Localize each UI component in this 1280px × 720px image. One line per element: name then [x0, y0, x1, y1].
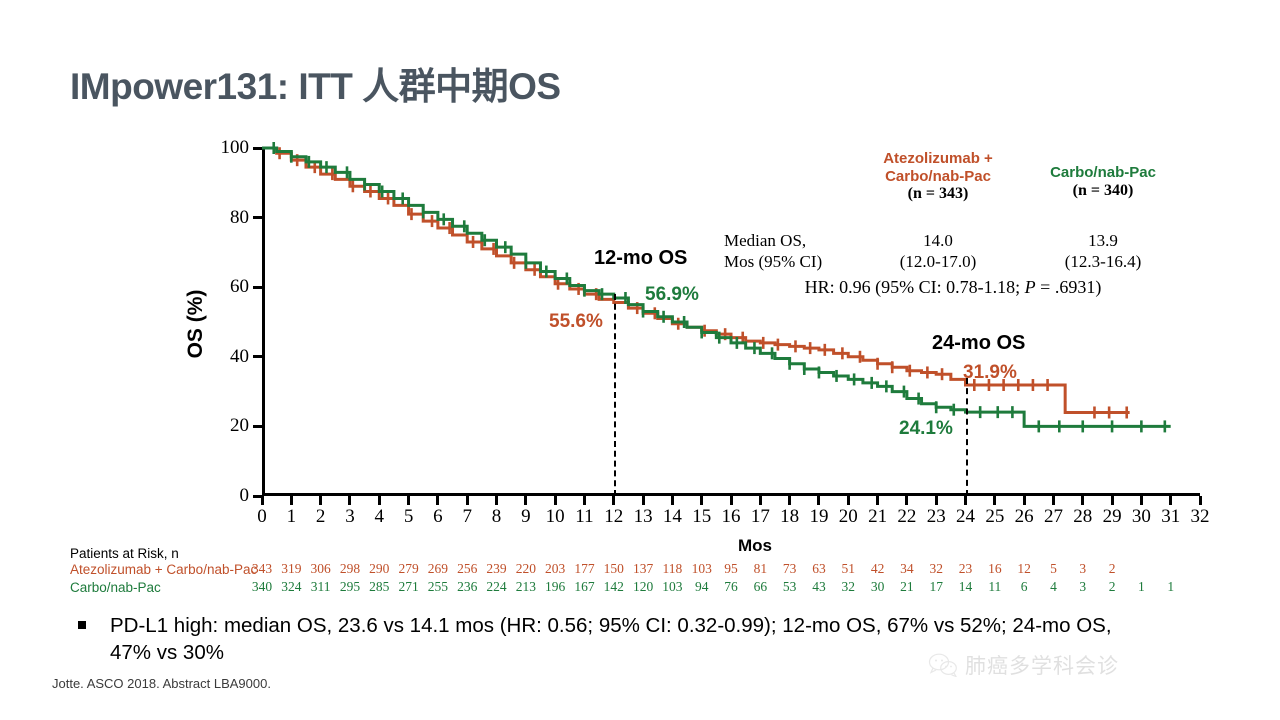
risk-value: 34	[900, 561, 914, 577]
hr-prefix: HR: 0.96 (95% CI: 0.78-1.18;	[805, 277, 1025, 297]
risk-value: 2	[1109, 579, 1116, 595]
risk-value: 343	[252, 561, 272, 577]
risk-value: 73	[783, 561, 797, 577]
risk-value: 306	[311, 561, 331, 577]
risk-value: 95	[724, 561, 738, 577]
risk-value: 220	[516, 561, 536, 577]
risk-value: 14	[959, 579, 973, 595]
risk-row-a-label: Atezolizumab + Carbo/nab-Pac	[70, 562, 257, 577]
risk-value: 12	[1017, 561, 1031, 577]
risk-value: 51	[842, 561, 856, 577]
risk-value: 224	[486, 579, 506, 595]
x-tick-label: 8	[492, 506, 502, 528]
x-tick-label: 9	[521, 506, 531, 528]
x-tick	[378, 496, 381, 505]
risk-value: 21	[900, 579, 914, 595]
x-tick-label: 26	[1015, 506, 1034, 528]
risk-value: 340	[252, 579, 272, 595]
risk-value: 17	[929, 579, 943, 595]
y-axis-title: OS (%)	[184, 290, 208, 359]
risk-value: 43	[812, 579, 826, 595]
y-tick	[253, 216, 262, 219]
x-tick	[730, 496, 733, 505]
x-tick-label: 14	[663, 506, 682, 528]
hr-p-symbol: P	[1025, 277, 1036, 297]
x-tick	[290, 496, 293, 505]
risk-value: 177	[574, 561, 594, 577]
risk-value: 203	[545, 561, 565, 577]
x-tick	[495, 496, 498, 505]
risk-value: 81	[754, 561, 768, 577]
y-tick	[253, 147, 262, 150]
x-tick	[905, 496, 908, 505]
risk-value: 1	[1138, 579, 1145, 595]
y-tick-label: 40	[230, 346, 249, 368]
x-tick-label: 16	[722, 506, 741, 528]
x-tick	[788, 496, 791, 505]
risk-value: 324	[281, 579, 301, 595]
watermark-text: 肺癌多学科会诊	[965, 650, 1119, 680]
bullet-marker-icon	[78, 621, 86, 629]
arm-a-median-ci: (12.0-17.0)	[900, 252, 976, 271]
x-tick	[407, 496, 410, 505]
x-tick	[1111, 496, 1114, 505]
risk-value: 167	[574, 579, 594, 595]
risk-value: 295	[340, 579, 360, 595]
x-tick-label: 22	[897, 506, 916, 528]
annotation-24mo-title: 24-mo OS	[932, 332, 1025, 355]
x-tick	[1169, 496, 1172, 505]
x-tick	[700, 496, 703, 505]
annotation-24mo-orange: 31.9%	[963, 362, 1017, 384]
x-tick-label: 13	[634, 506, 653, 528]
x-tick-label: 29	[1103, 506, 1122, 528]
risk-value: 23	[959, 561, 973, 577]
page-title: IMpower131: ITT 人群中期OS	[70, 56, 561, 110]
risk-value: 5	[1050, 561, 1057, 577]
arm-b-median-value: 13.9	[1088, 231, 1118, 250]
risk-value: 32	[842, 579, 856, 595]
x-tick-label: 11	[575, 506, 593, 528]
risk-value: 30	[871, 579, 885, 595]
y-tick-label: 60	[230, 276, 249, 298]
x-tick-label: 20	[839, 506, 858, 528]
x-tick-label: 12	[604, 506, 623, 528]
x-tick	[554, 496, 557, 505]
y-tick-label: 0	[240, 485, 250, 507]
risk-value: 16	[988, 561, 1002, 577]
x-tick	[1081, 496, 1084, 505]
arm-b-median-ci: (12.3-16.4)	[1065, 252, 1141, 271]
risk-value: 66	[754, 579, 768, 595]
y-tick	[253, 425, 262, 428]
arm-b-header: Carbo/nab-Pac (n = 340)	[1018, 164, 1188, 201]
median-os-label-line2: Mos (95% CI)	[724, 252, 822, 271]
x-tick-label: 19	[809, 506, 828, 528]
x-tick	[524, 496, 527, 505]
x-tick-label: 4	[375, 506, 385, 528]
y-tick	[253, 286, 262, 289]
x-tick-label: 25	[985, 506, 1004, 528]
x-tick	[817, 496, 820, 505]
risk-value: 290	[369, 561, 389, 577]
x-tick	[847, 496, 850, 505]
citation: Jotte. ASCO 2018. Abstract LBA9000.	[52, 676, 271, 691]
risk-value: 6	[1021, 579, 1028, 595]
risk-value: 3	[1079, 561, 1086, 577]
risk-value: 285	[369, 579, 389, 595]
x-tick-label: 23	[927, 506, 946, 528]
patients-at-risk-table: Patients at Risk, n Atezolizumab + Carbo…	[70, 546, 1210, 597]
risk-value: 279	[398, 561, 418, 577]
annotation-24mo-green: 24.1%	[899, 418, 953, 440]
x-tick-label: 6	[433, 506, 443, 528]
risk-value: 196	[545, 579, 565, 595]
y-tick	[253, 355, 262, 358]
x-tick	[964, 496, 967, 505]
risk-value: 271	[398, 579, 418, 595]
x-tick	[1052, 496, 1055, 505]
risk-value: 11	[988, 579, 1001, 595]
risk-value: 103	[662, 579, 682, 595]
risk-value: 269	[428, 561, 448, 577]
risk-value: 213	[516, 579, 536, 595]
arm-a-name-line2: Carbo/nab-Pac	[885, 168, 991, 185]
annotation-12mo-title: 12-mo OS	[594, 247, 687, 270]
risk-value: 137	[633, 561, 653, 577]
risk-value: 298	[340, 561, 360, 577]
risk-value: 94	[695, 579, 709, 595]
x-tick	[993, 496, 996, 505]
risk-value: 103	[692, 561, 712, 577]
median-os-row-label: Median OS, Mos (95% CI)	[724, 230, 822, 273]
x-tick-label: 1	[287, 506, 297, 528]
x-tick	[876, 496, 879, 505]
watermark: 肺癌多学科会诊	[928, 650, 1119, 680]
risk-value: 142	[604, 579, 624, 595]
risk-value: 76	[724, 579, 738, 595]
x-tick	[319, 496, 322, 505]
x-tick-label: 18	[780, 506, 799, 528]
hr-suffix: = .6931)	[1036, 277, 1102, 297]
annotation-12mo-green: 56.9%	[645, 284, 699, 306]
risk-value: 256	[457, 561, 477, 577]
x-tick-label: 2	[316, 506, 326, 528]
y-tick-label: 20	[230, 415, 249, 437]
y-tick-label: 80	[230, 207, 249, 229]
annotation-12mo-orange: 55.6%	[549, 311, 603, 333]
risk-value: 42	[871, 561, 885, 577]
arm-a-name-line1: Atezolizumab +	[883, 150, 993, 167]
x-tick-label: 7	[462, 506, 472, 528]
risk-value: 239	[486, 561, 506, 577]
slide-root: IMpower131: ITT 人群中期OS OS (%) Mos 020406…	[0, 0, 1280, 720]
x-tick	[436, 496, 439, 505]
x-tick-label: 17	[751, 506, 770, 528]
reference-line-24mo	[966, 378, 968, 496]
risk-value: 32	[929, 561, 943, 577]
risk-value: 236	[457, 579, 477, 595]
x-tick-label: 30	[1132, 506, 1151, 528]
risk-value: 150	[604, 561, 624, 577]
risk-value: 311	[311, 579, 331, 595]
x-tick-label: 0	[257, 506, 267, 528]
x-tick	[642, 496, 645, 505]
arm-a-n: (n = 343)	[908, 185, 969, 202]
x-tick-label: 5	[404, 506, 414, 528]
wechat-icon	[928, 653, 958, 677]
risk-value: 319	[281, 561, 301, 577]
arm-a-median-value: 14.0	[923, 231, 953, 250]
median-os-label-line1: Median OS,	[724, 231, 806, 250]
risk-value: 1	[1167, 579, 1174, 595]
x-tick-label: 27	[1044, 506, 1063, 528]
arm-b-n: (n = 340)	[1073, 182, 1134, 199]
x-tick-label: 28	[1073, 506, 1092, 528]
arm-a-median-cell: 14.0 (12.0-17.0)	[858, 230, 1018, 273]
x-tick-label: 24	[956, 506, 975, 528]
x-tick	[1140, 496, 1143, 505]
x-tick	[348, 496, 351, 505]
risk-value: 3	[1079, 579, 1086, 595]
risk-value: 4	[1050, 579, 1057, 595]
x-tick	[935, 496, 938, 505]
x-tick	[583, 496, 586, 505]
x-tick	[671, 496, 674, 505]
risk-value: 120	[633, 579, 653, 595]
risk-value: 63	[812, 561, 826, 577]
y-tick-label: 100	[221, 137, 250, 159]
x-tick-label: 31	[1161, 506, 1180, 528]
reference-line-12mo	[614, 294, 616, 496]
arm-a-header: Atezolizumab + Carbo/nab-Pac (n = 343)	[858, 150, 1018, 204]
risk-caption: Patients at Risk, n	[70, 546, 1210, 561]
risk-value: 53	[783, 579, 797, 595]
x-tick	[612, 496, 615, 505]
x-tick	[261, 496, 264, 505]
x-tick-label: 10	[546, 506, 565, 528]
x-tick-label: 32	[1191, 506, 1210, 528]
x-tick	[759, 496, 762, 505]
x-tick	[1199, 496, 1202, 505]
risk-value: 118	[663, 561, 683, 577]
x-tick	[466, 496, 469, 505]
risk-value: 2	[1109, 561, 1116, 577]
x-tick-label: 3	[345, 506, 355, 528]
x-tick-label: 15	[692, 506, 711, 528]
x-tick-label: 21	[868, 506, 887, 528]
hazard-ratio-line: HR: 0.96 (95% CI: 0.78-1.18; P = .6931)	[718, 277, 1188, 298]
arm-b-name-line1: Carbo/nab-Pac	[1050, 164, 1156, 181]
risk-row-b-label: Carbo/nab-Pac	[70, 580, 161, 595]
x-tick	[1023, 496, 1026, 505]
risk-value: 255	[428, 579, 448, 595]
arm-b-median-cell: 13.9 (12.3-16.4)	[1018, 230, 1188, 273]
